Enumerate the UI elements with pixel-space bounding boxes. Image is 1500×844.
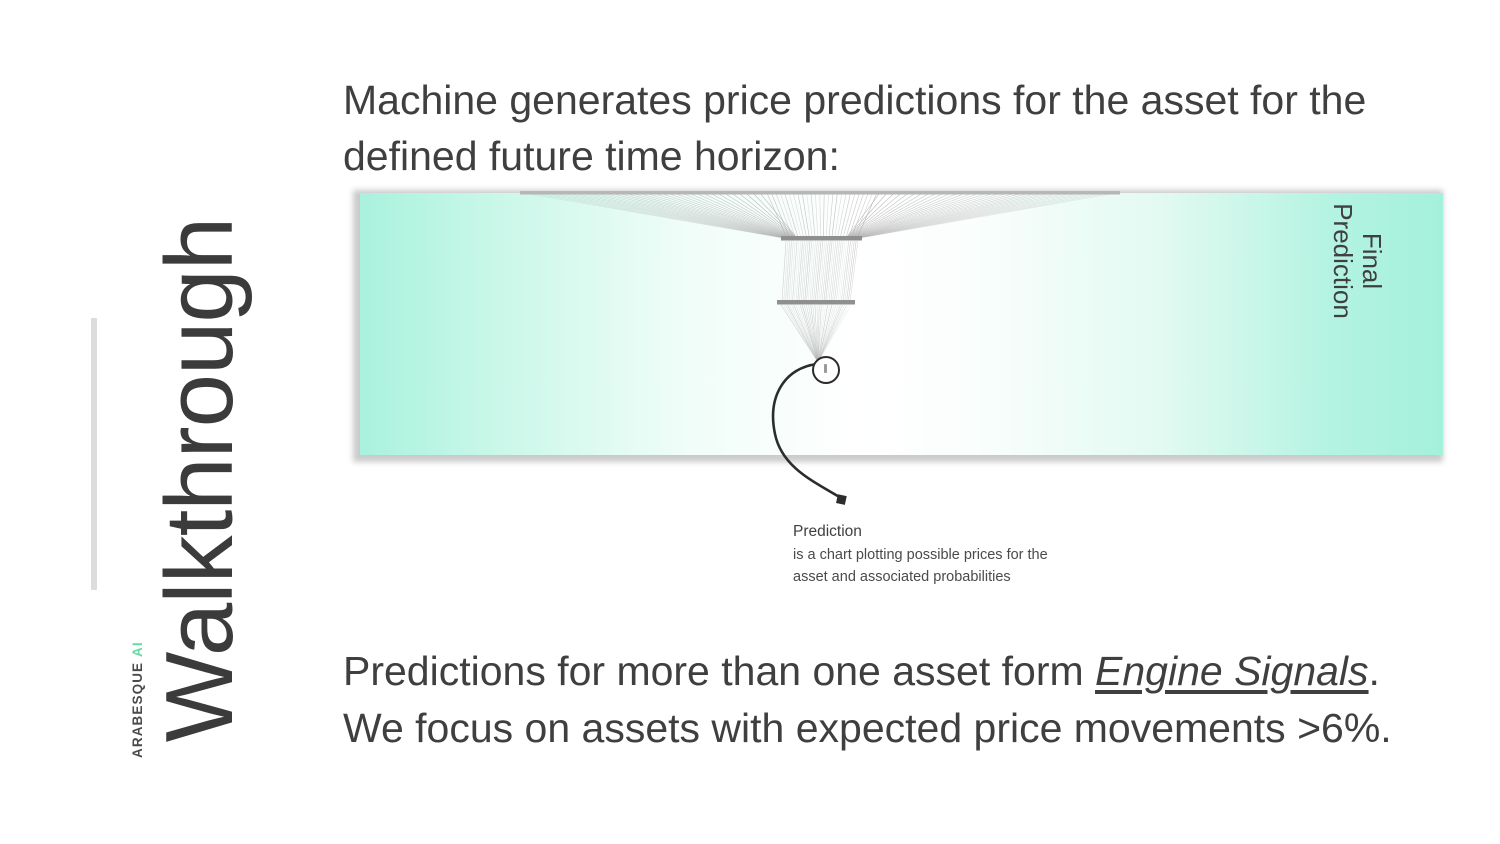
prediction-node-dot [824,364,827,373]
callout-body: is a chart plotting possible prices for … [793,544,1053,588]
brand-name: ARABESQUE [130,662,145,758]
closing-prefix: Predictions for more than one asset form [343,648,1095,694]
callout-heading: Prediction [793,520,1053,544]
closing-line-two: We focus on assets with expected price m… [343,705,1392,751]
final-prediction-label-line-2: Prediction [1328,136,1357,386]
brand-suffix: AI [130,641,145,657]
prediction-node-marker [812,356,840,384]
left-rail: ARABESQUE AI Walkthrough [0,0,300,844]
callout-annotation: Prediction is a chart plotting possible … [793,520,1053,588]
final-prediction-label-line-1: Final [1357,136,1386,386]
final-prediction-label: Final Prediction [1328,136,1386,386]
closing-suffix: . [1369,648,1380,694]
closing-heading: Predictions for more than one asset form… [343,643,1433,757]
callout-leader-line [745,352,875,522]
closing-emphasis: Engine Signals [1095,648,1369,694]
rail-divider [91,318,97,590]
section-title: Walkthrough [145,160,255,800]
lead-heading: Machine generates price predictions for … [343,72,1413,184]
